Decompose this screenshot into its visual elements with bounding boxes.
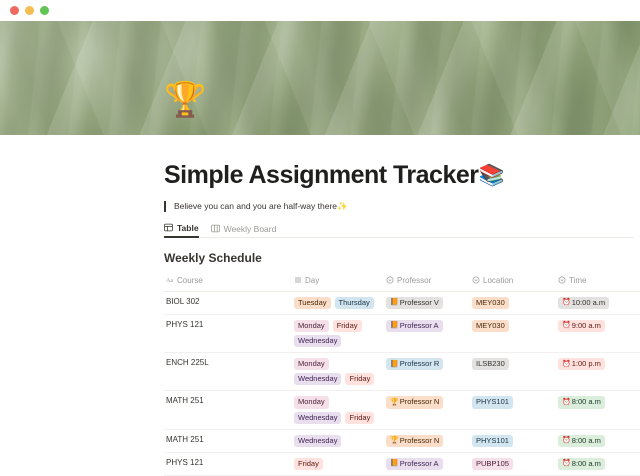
cell-time[interactable]: ⏰1:00 p.m	[556, 353, 640, 391]
page-cover-image[interactable]	[0, 21, 640, 135]
tab-table-label: Table	[177, 223, 199, 233]
cell-course[interactable]: PHYS 121	[164, 452, 292, 475]
cell-time[interactable]: ⏰9:00 a.m	[556, 314, 640, 352]
select-property-icon	[472, 276, 480, 286]
day-tag[interactable]: Monday	[294, 320, 329, 332]
table-row[interactable]: BIOL 302TuesdayThursday📙Professor VMEY03…	[164, 291, 640, 314]
column-header-professor[interactable]: Professor	[384, 272, 470, 292]
location-tag[interactable]: PUBP105	[472, 458, 513, 470]
page-quote[interactable]: Believe you can and you are half-way the…	[164, 201, 640, 212]
day-tag-list: Wednesday	[294, 435, 378, 447]
time-tag-emoji: ⏰	[562, 459, 571, 468]
professor-tag-label: Professor N	[400, 397, 440, 407]
board-icon	[211, 224, 220, 233]
cell-location[interactable]: ILSB230	[470, 353, 556, 391]
day-tag-list: MondayFridayWednesday	[294, 320, 378, 347]
day-tag-label: Friday	[349, 413, 370, 423]
professor-tag-label: Professor N	[400, 436, 440, 446]
day-tag[interactable]: Friday	[294, 458, 323, 470]
table-row[interactable]: PHYS 121MondayFridayWednesday📙Professor …	[164, 314, 640, 352]
professor-tag-label: Professor A	[400, 459, 439, 469]
select-property-icon	[386, 276, 394, 286]
location-tag-label: MEY030	[476, 298, 505, 308]
cell-day[interactable]: Friday	[292, 452, 384, 475]
professor-tag-emoji: 📙	[390, 298, 399, 307]
cell-location[interactable]: PHYS101	[470, 429, 556, 452]
time-tag-emoji: ⏰	[562, 321, 571, 330]
column-header-day[interactable]: Day	[292, 272, 384, 292]
window-minimize-button[interactable]	[25, 6, 34, 15]
table-row[interactable]: PHYS 121Friday📙Professor APUBP105⏰8:00 a…	[164, 452, 640, 475]
table-title[interactable]: Weekly Schedule	[164, 251, 640, 265]
day-tag-list: Friday	[294, 458, 378, 470]
column-header-course[interactable]: Aa Course	[164, 272, 292, 292]
location-tag-label: ILSB230	[476, 359, 505, 369]
cell-professor[interactable]: 📙Professor R	[384, 353, 470, 391]
course-name: PHYS 121	[166, 458, 203, 467]
professor-tag[interactable]: 🏆Professor N	[386, 435, 443, 447]
professor-tag-emoji: 📙	[390, 360, 399, 369]
location-tag-label: PHYS101	[476, 436, 509, 446]
cell-time[interactable]: ⏰8:00 a.m	[556, 391, 640, 429]
day-tag-list: MondayWednesdayFriday	[294, 396, 378, 423]
table-row[interactable]: MATH 251MondayWednesdayFriday🏆Professor …	[164, 391, 640, 429]
time-tag-label: 8:00 a.m	[572, 436, 601, 446]
day-tag-label: Friday	[298, 459, 319, 469]
page-quote-text: Believe you can and you are half-way the…	[174, 201, 337, 211]
view-tab-bar: Table Weekly Board	[164, 223, 634, 238]
time-tag-emoji: ⏰	[562, 298, 571, 307]
time-tag[interactable]: ⏰1:00 p.m	[558, 358, 605, 370]
cell-time[interactable]: ⏰8:00 a.m	[556, 429, 640, 452]
multiselect-property-icon	[294, 276, 302, 286]
page-icon-trophy[interactable]: 🏆	[164, 83, 206, 117]
cell-professor[interactable]: 🏆Professor N	[384, 391, 470, 429]
professor-tag[interactable]: 🏆Professor N	[386, 396, 443, 408]
table-icon	[164, 223, 173, 232]
time-tag-emoji: ⏰	[562, 360, 571, 369]
cell-professor[interactable]: 📙Professor A	[384, 452, 470, 475]
time-tag-label: 9:00 a.m	[572, 321, 601, 331]
books-icon: 📚	[478, 164, 504, 187]
professor-tag-emoji: 📙	[390, 459, 399, 468]
cell-time[interactable]: ⏰10:00 a.m	[556, 291, 640, 314]
time-tag-label: 8:00 a.m	[572, 397, 601, 407]
location-tag[interactable]: MEY030	[472, 320, 509, 332]
select-property-icon	[558, 276, 566, 286]
professor-tag-label: Professor V	[400, 298, 439, 308]
day-tag[interactable]: Friday	[333, 320, 362, 332]
cell-course[interactable]: ENCH 225L	[164, 353, 292, 391]
cell-professor[interactable]: 📙Professor V	[384, 291, 470, 314]
professor-tag-label: Professor R	[400, 359, 440, 369]
schedule-table-body: BIOL 302TuesdayThursday📙Professor VMEY03…	[164, 291, 640, 475]
cell-day[interactable]: Wednesday	[292, 429, 384, 452]
page-content: Simple Assignment Tracker📚 Believe you c…	[0, 135, 640, 476]
day-tag[interactable]: Wednesday	[294, 412, 341, 424]
day-tag[interactable]: Thursday	[335, 297, 374, 309]
professor-tag[interactable]: 📙Professor A	[386, 320, 443, 332]
location-tag[interactable]: MEY030	[472, 297, 509, 309]
day-tag-list: MondayWednesdayFriday	[294, 358, 378, 385]
window-close-button[interactable]	[10, 6, 19, 15]
day-tag[interactable]: Wednesday	[294, 373, 341, 385]
day-tag-label: Monday	[298, 397, 325, 407]
day-tag-label: Friday	[337, 321, 358, 331]
page-title-text: Simple Assignment Tracker	[164, 161, 478, 189]
day-tag-label: Wednesday	[298, 413, 337, 423]
professor-tag-emoji: 📙	[390, 321, 399, 330]
table-row[interactable]: ENCH 225LMondayWednesdayFriday📙Professor…	[164, 353, 640, 391]
column-header-professor-label: Professor	[397, 276, 431, 285]
cell-time[interactable]: ⏰8:00 a.m	[556, 452, 640, 475]
time-tag[interactable]: ⏰9:00 a.m	[558, 320, 605, 332]
day-tag-label: Friday	[349, 374, 370, 384]
professor-tag[interactable]: 📙Professor R	[386, 358, 443, 370]
column-header-time[interactable]: Time	[556, 272, 640, 292]
professor-tag-emoji: 🏆	[390, 398, 399, 407]
text-property-icon: Aa	[166, 276, 174, 286]
column-header-location[interactable]: Location	[470, 272, 556, 292]
cell-course[interactable]: PHYS 121	[164, 314, 292, 352]
column-header-day-label: Day	[305, 276, 319, 285]
course-name: BIOL 302	[166, 297, 200, 306]
cell-location[interactable]: PHYS101	[470, 391, 556, 429]
sparkles-icon: ✨	[337, 201, 348, 211]
day-tag-label: Wednesday	[298, 336, 337, 346]
professor-tag[interactable]: 📙Professor V	[386, 297, 443, 309]
day-tag-label: Wednesday	[298, 374, 337, 384]
time-tag[interactable]: ⏰8:00 a.m	[558, 435, 605, 447]
schedule-table: Aa Course	[164, 272, 640, 476]
time-tag[interactable]: ⏰8:00 a.m	[558, 458, 605, 470]
time-tag-emoji: ⏰	[562, 398, 571, 407]
day-tag[interactable]: Monday	[294, 396, 329, 408]
cell-day[interactable]: MondayFridayWednesday	[292, 314, 384, 352]
time-tag[interactable]: ⏰10:00 a.m	[558, 297, 609, 309]
professor-tag-label: Professor A	[400, 321, 439, 331]
column-header-course-label: Course	[177, 276, 203, 285]
time-tag-label: 8:00 a.m	[572, 459, 601, 469]
time-tag-emoji: ⏰	[562, 436, 571, 445]
page-title[interactable]: Simple Assignment Tracker📚	[164, 135, 640, 190]
day-tag-label: Tuesday	[298, 298, 327, 308]
course-name: MATH 251	[166, 396, 204, 405]
day-tag-label: Wednesday	[298, 436, 337, 446]
svg-text:Aa: Aa	[166, 278, 173, 284]
day-tag-list: TuesdayThursday	[294, 297, 378, 309]
day-tag-label: Thursday	[339, 298, 370, 308]
window-titlebar	[0, 0, 640, 21]
course-name: MATH 251	[166, 435, 204, 444]
course-name: ENCH 225L	[166, 358, 209, 367]
cell-day[interactable]: MondayWednesdayFriday	[292, 353, 384, 391]
location-tag[interactable]: PHYS101	[472, 435, 513, 447]
cell-professor[interactable]: 📙Professor A	[384, 314, 470, 352]
cell-location[interactable]: MEY030	[470, 314, 556, 352]
professor-tag[interactable]: 📙Professor A	[386, 458, 443, 470]
tab-weekly-board-label: Weekly Board	[224, 224, 277, 234]
day-tag[interactable]: Friday	[345, 412, 374, 424]
cell-course[interactable]: MATH 251	[164, 429, 292, 452]
day-tag[interactable]: Friday	[345, 373, 374, 385]
cell-day[interactable]: TuesdayThursday	[292, 291, 384, 314]
tab-table[interactable]: Table	[164, 223, 199, 238]
column-header-location-label: Location	[483, 276, 513, 285]
cell-course[interactable]: BIOL 302	[164, 291, 292, 314]
cell-location[interactable]: PUBP105	[470, 452, 556, 475]
location-tag-label: PHYS101	[476, 397, 509, 407]
location-tag[interactable]: PHYS101	[472, 396, 513, 408]
time-tag[interactable]: ⏰8:00 a.m	[558, 396, 605, 408]
course-name: PHYS 121	[166, 320, 203, 329]
location-tag-label: MEY030	[476, 321, 505, 331]
location-tag[interactable]: ILSB230	[472, 358, 509, 370]
table-row[interactable]: MATH 251Wednesday🏆Professor NPHYS101⏰8:0…	[164, 429, 640, 452]
location-tag-label: PUBP105	[476, 459, 509, 469]
table-header-row: Aa Course	[164, 272, 640, 292]
window-maximize-button[interactable]	[40, 6, 49, 15]
cell-professor[interactable]: 🏆Professor N	[384, 429, 470, 452]
day-tag-label: Monday	[298, 321, 325, 331]
column-header-time-label: Time	[569, 276, 586, 285]
day-tag[interactable]: Tuesday	[294, 297, 331, 309]
cell-course[interactable]: MATH 251	[164, 391, 292, 429]
day-tag[interactable]: Wednesday	[294, 435, 341, 447]
day-tag-label: Monday	[298, 359, 325, 369]
cell-location[interactable]: MEY030	[470, 291, 556, 314]
day-tag[interactable]: Monday	[294, 358, 329, 370]
time-tag-label: 10:00 a.m	[572, 298, 605, 308]
tab-weekly-board[interactable]: Weekly Board	[211, 224, 277, 237]
cell-day[interactable]: MondayWednesdayFriday	[292, 391, 384, 429]
professor-tag-emoji: 🏆	[390, 436, 399, 445]
day-tag[interactable]: Wednesday	[294, 335, 341, 347]
time-tag-label: 1:00 p.m	[572, 359, 601, 369]
